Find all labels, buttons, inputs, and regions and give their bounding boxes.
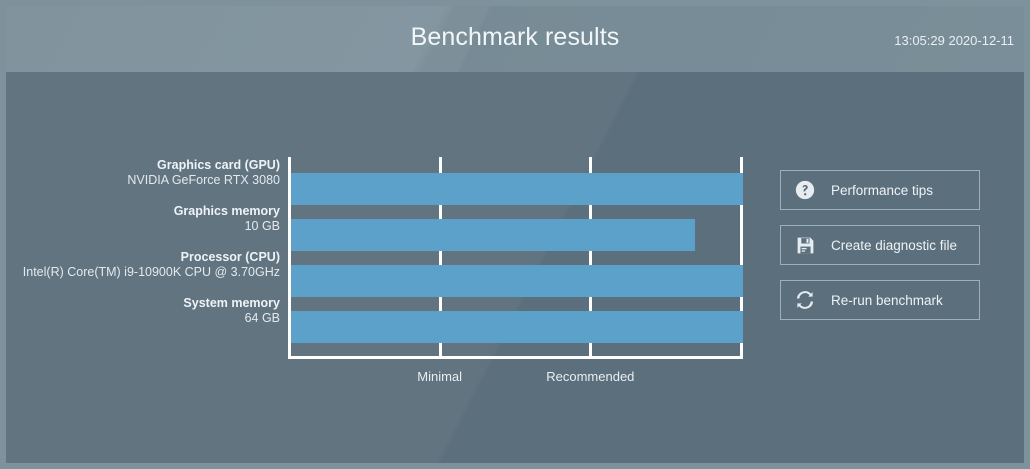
page-title: Benchmark results xyxy=(0,22,1030,52)
category-detail: Intel(R) Core(TM) i9-10900K CPU @ 3.70GH… xyxy=(0,265,280,280)
action-button-list: Performance tips Create diagnostic file xyxy=(780,170,980,335)
category-detail: 10 GB xyxy=(0,219,280,234)
category-detail: 64 GB xyxy=(0,311,280,326)
body-area: Graphics card (GPU) NVIDIA GeForce RTX 3… xyxy=(0,72,1030,469)
bar-cpu xyxy=(291,265,743,297)
category-label-graphics-memory: Graphics memory 10 GB xyxy=(0,204,280,234)
axis-bottom xyxy=(288,356,743,359)
category-title: Graphics card (GPU) xyxy=(0,158,280,173)
category-label-cpu: Processor (CPU) Intel(R) Core(TM) i9-109… xyxy=(0,250,280,280)
bar-gpu xyxy=(291,173,743,205)
bar-system-memory xyxy=(291,311,743,343)
bar-graphics-memory xyxy=(291,219,695,251)
title-bar: Benchmark results 13:05:29 2020-12-11 xyxy=(0,0,1030,72)
category-title: System memory xyxy=(0,296,280,311)
category-title: Processor (CPU) xyxy=(0,250,280,265)
action-label: Re-run benchmark xyxy=(831,292,943,309)
category-label-gpu: Graphics card (GPU) NVIDIA GeForce RTX 3… xyxy=(0,158,280,188)
bar-fill xyxy=(291,173,743,205)
category-detail: NVIDIA GeForce RTX 3080 xyxy=(0,173,280,188)
tick-label-recommended: Recommended xyxy=(546,369,634,385)
benchmark-bar-chart: Minimal Recommended xyxy=(288,157,743,359)
tick-label-minimal: Minimal xyxy=(417,369,462,385)
bar-fill xyxy=(291,219,695,251)
timestamp: 13:05:29 2020-12-11 xyxy=(894,33,1014,49)
performance-tips-button[interactable]: Performance tips xyxy=(780,170,980,210)
help-circle-icon xyxy=(792,177,818,203)
refresh-icon xyxy=(792,287,818,313)
floppy-disk-icon xyxy=(792,232,818,258)
category-title: Graphics memory xyxy=(0,204,280,219)
chart-category-labels: Graphics card (GPU) NVIDIA GeForce RTX 3… xyxy=(0,144,280,469)
bar-fill xyxy=(291,311,743,343)
action-label: Performance tips xyxy=(831,182,933,199)
bar-fill xyxy=(291,265,743,297)
create-diagnostic-file-button[interactable]: Create diagnostic file xyxy=(780,225,980,265)
re-run-benchmark-button[interactable]: Re-run benchmark xyxy=(780,280,980,320)
action-label: Create diagnostic file xyxy=(831,237,957,254)
benchmark-results-window: Benchmark results 13:05:29 2020-12-11 Gr… xyxy=(0,0,1030,469)
category-label-system-memory: System memory 64 GB xyxy=(0,296,280,326)
